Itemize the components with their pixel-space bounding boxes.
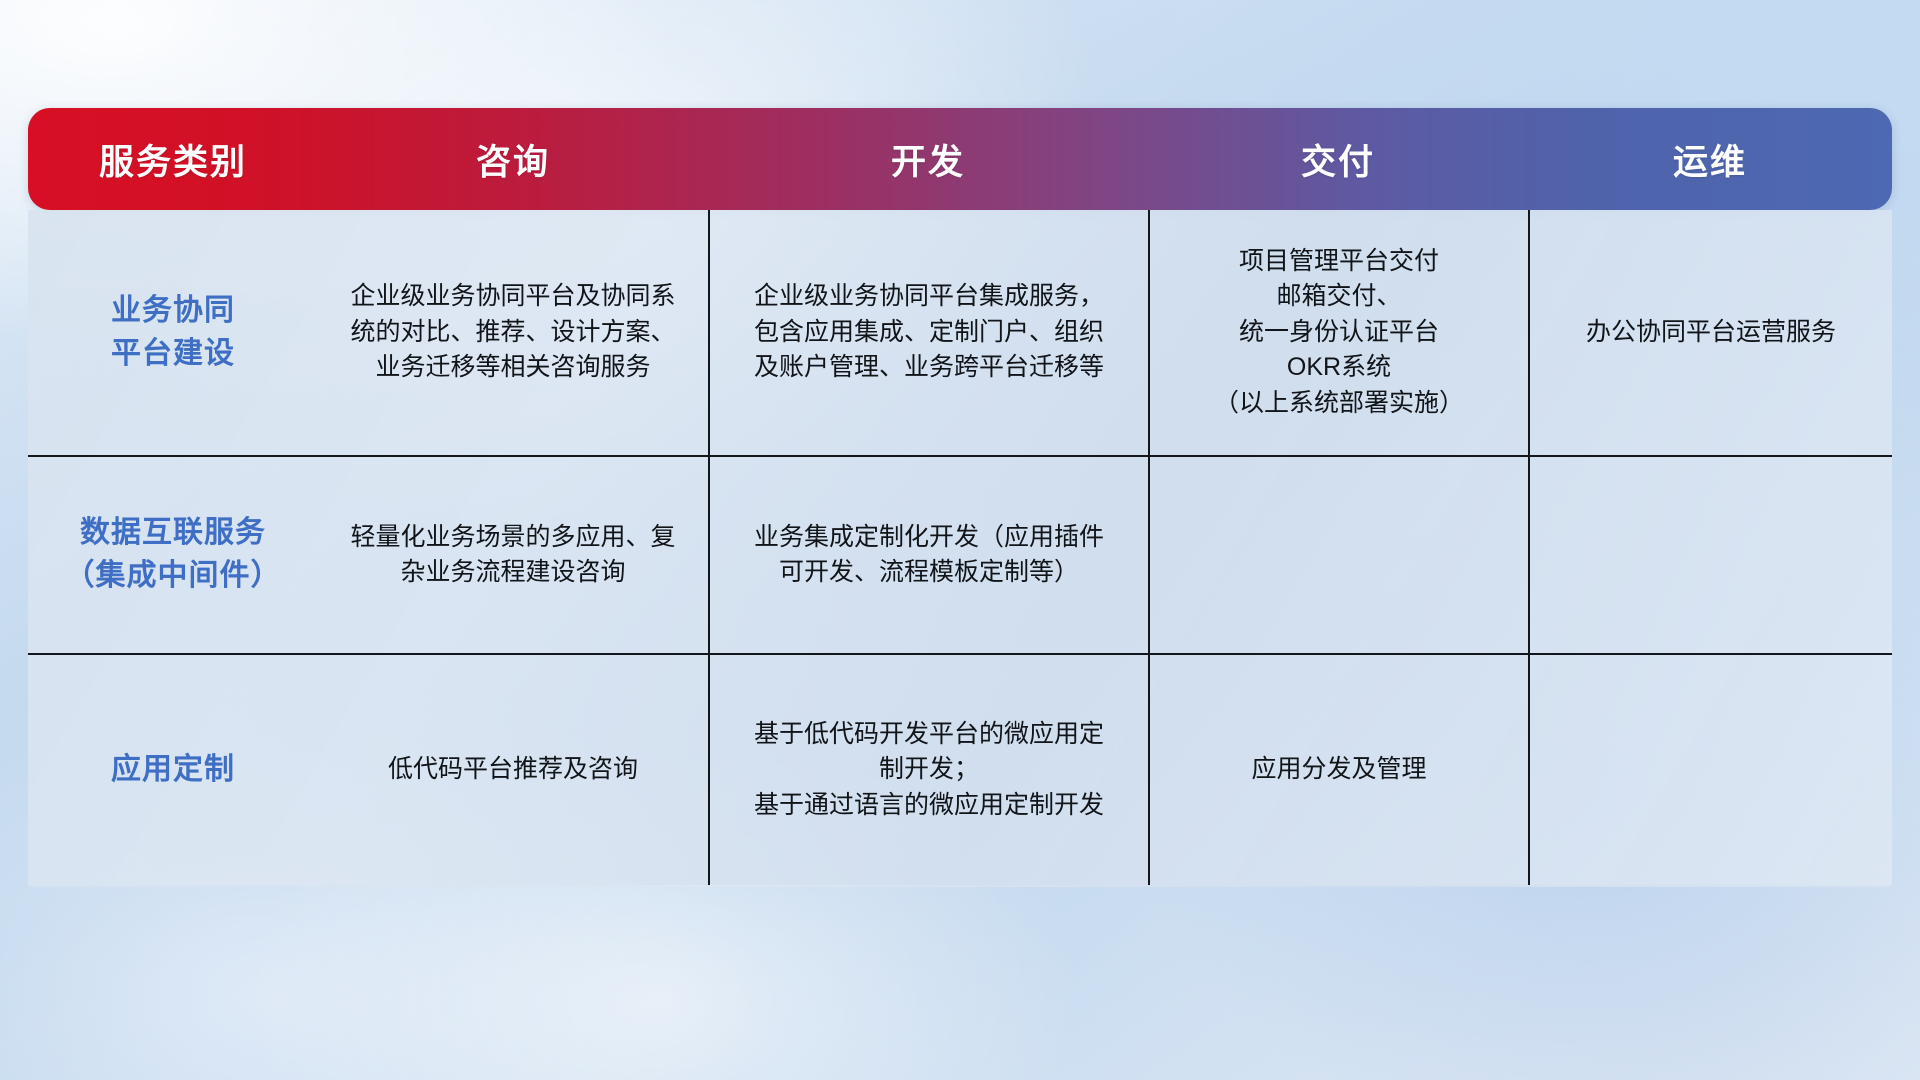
cell-operations: 办公协同平台运营服务 [1528,210,1892,455]
cell-consulting: 企业级业务协同平台及协同系 统的对比、推荐、设计方案、 业务迁移等相关咨询服务 [318,210,708,455]
slide-canvas: 服务类别 咨询 开发 交付 运维 业务协同 平台建设 企业级业务协同平台及协同系… [0,0,1920,1080]
row-category-label: 应用定制 [28,655,318,885]
row-category-label: 业务协同 平台建设 [28,210,318,455]
cell-delivery [1148,457,1528,653]
column-header-delivery: 交付 [1148,108,1528,210]
table-header-row: 服务类别 咨询 开发 交付 运维 [28,108,1892,210]
service-matrix-table: 服务类别 咨询 开发 交付 运维 业务协同 平台建设 企业级业务协同平台及协同系… [28,108,1892,887]
cell-operations [1528,655,1892,885]
cell-consulting: 低代码平台推荐及咨询 [318,655,708,885]
row-category-label: 数据互联服务 （集成中间件） [28,457,318,653]
column-header-development: 开发 [708,108,1148,210]
table-row: 业务协同 平台建设 企业级业务协同平台及协同系 统的对比、推荐、设计方案、 业务… [28,210,1892,455]
table-body: 业务协同 平台建设 企业级业务协同平台及协同系 统的对比、推荐、设计方案、 业务… [28,210,1892,887]
cell-consulting: 轻量化业务场景的多应用、复 杂业务流程建设咨询 [318,457,708,653]
cell-development: 业务集成定制化开发（应用插件 可开发、流程模板定制等） [708,457,1148,653]
table-row: 应用定制 低代码平台推荐及咨询 基于低代码开发平台的微应用定 制开发； 基于通过… [28,653,1892,885]
column-header-operations: 运维 [1528,108,1892,210]
cell-operations [1528,457,1892,653]
cell-delivery: 应用分发及管理 [1148,655,1528,885]
column-header-category: 服务类别 [28,108,318,210]
cell-delivery: 项目管理平台交付 邮箱交付、 统一身份认证平台 OKR系统 （以上系统部署实施） [1148,210,1528,455]
table-row: 数据互联服务 （集成中间件） 轻量化业务场景的多应用、复 杂业务流程建设咨询 业… [28,455,1892,653]
cell-development: 基于低代码开发平台的微应用定 制开发； 基于通过语言的微应用定制开发 [708,655,1148,885]
cell-development: 企业级业务协同平台集成服务， 包含应用集成、定制门户、组织 及账户管理、业务跨平… [708,210,1148,455]
column-header-consulting: 咨询 [318,108,708,210]
